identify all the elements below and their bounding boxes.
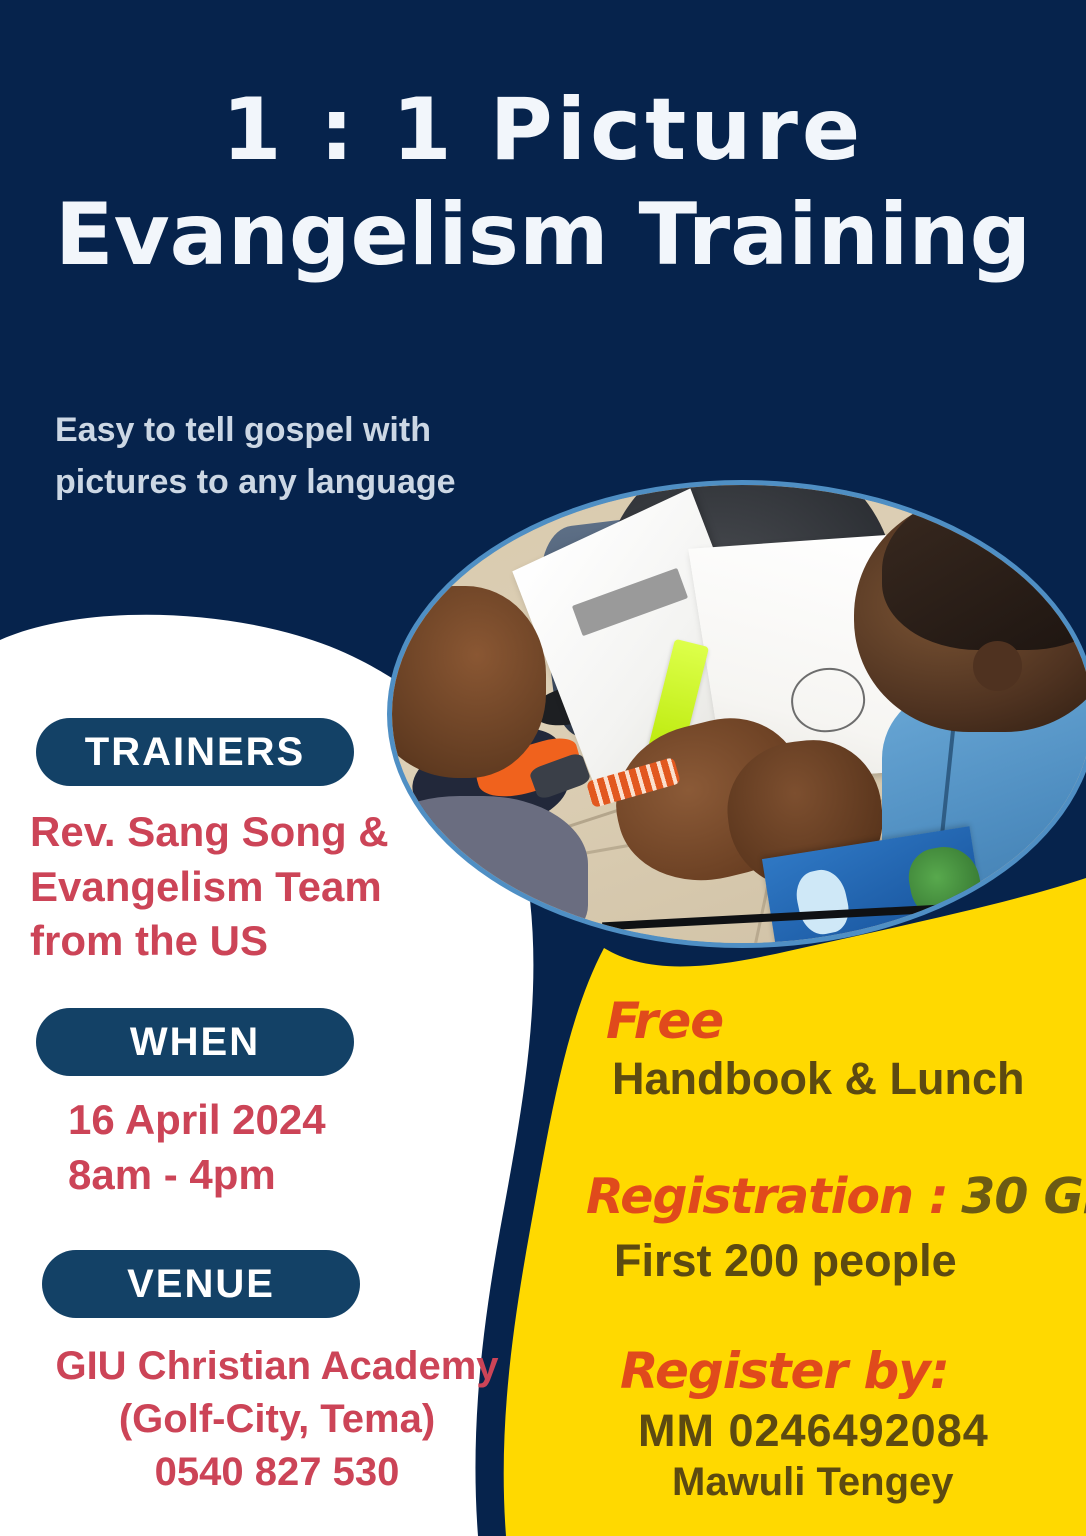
venue-phone: 0540 827 530 xyxy=(22,1446,532,1499)
title-line-2: Evangelism Training xyxy=(0,183,1086,288)
trainers-line-2: Evangelism Team xyxy=(30,860,450,915)
event-date: 16 April 2024 xyxy=(68,1093,448,1148)
registration-limit: First 200 people xyxy=(614,1235,957,1287)
free-label: Free xyxy=(606,992,723,1050)
title-line-1: 1 : 1 Picture xyxy=(0,78,1086,183)
training-photo-frame xyxy=(392,485,1086,943)
venue-details: GIU Christian Academy (Golf-City, Tema) … xyxy=(22,1340,532,1498)
register-by-number: MM 0246492084 xyxy=(638,1405,989,1457)
trainers-pill: TRAINERS xyxy=(36,718,354,786)
when-details: 16 April 2024 8am - 4pm xyxy=(68,1093,448,1202)
trainers-details: Rev. Sang Song & Evangelism Team from th… xyxy=(30,805,450,969)
venue-location: (Golf-City, Tema) xyxy=(22,1393,532,1446)
register-by-name: Mawuli Tengey xyxy=(672,1460,954,1505)
page-title: 1 : 1 Picture Evangelism Training xyxy=(0,78,1086,288)
poster-root: 1 : 1 Picture Evangelism Training Easy t… xyxy=(0,0,1086,1536)
training-photo xyxy=(392,485,1086,943)
registration-label: Registration : xyxy=(586,1168,948,1225)
register-by-label: Register by: xyxy=(620,1342,949,1400)
registration-line: Registration : 30 GHC xyxy=(586,1168,1086,1225)
subtitle-line-2: pictures to any language xyxy=(55,457,575,509)
trainers-line-3: from the US xyxy=(30,914,450,969)
venue-name: GIU Christian Academy xyxy=(22,1340,532,1393)
venue-pill: VENUE xyxy=(42,1250,360,1318)
when-pill-label: WHEN xyxy=(130,1020,260,1065)
subtitle-line-1: Easy to tell gospel with xyxy=(55,405,575,457)
when-pill: WHEN xyxy=(36,1008,354,1076)
trainers-line-1: Rev. Sang Song & xyxy=(30,805,450,860)
photo-participant-right-ear xyxy=(973,641,1022,691)
trainers-pill-label: TRAINERS xyxy=(85,730,305,775)
free-items: Handbook & Lunch xyxy=(612,1053,1024,1105)
event-time: 8am - 4pm xyxy=(68,1148,448,1203)
subtitle: Easy to tell gospel with pictures to any… xyxy=(55,405,575,508)
photo-participant-left-head xyxy=(392,586,546,778)
venue-pill-label: VENUE xyxy=(127,1262,275,1307)
registration-amount: 30 GHC xyxy=(961,1168,1086,1225)
